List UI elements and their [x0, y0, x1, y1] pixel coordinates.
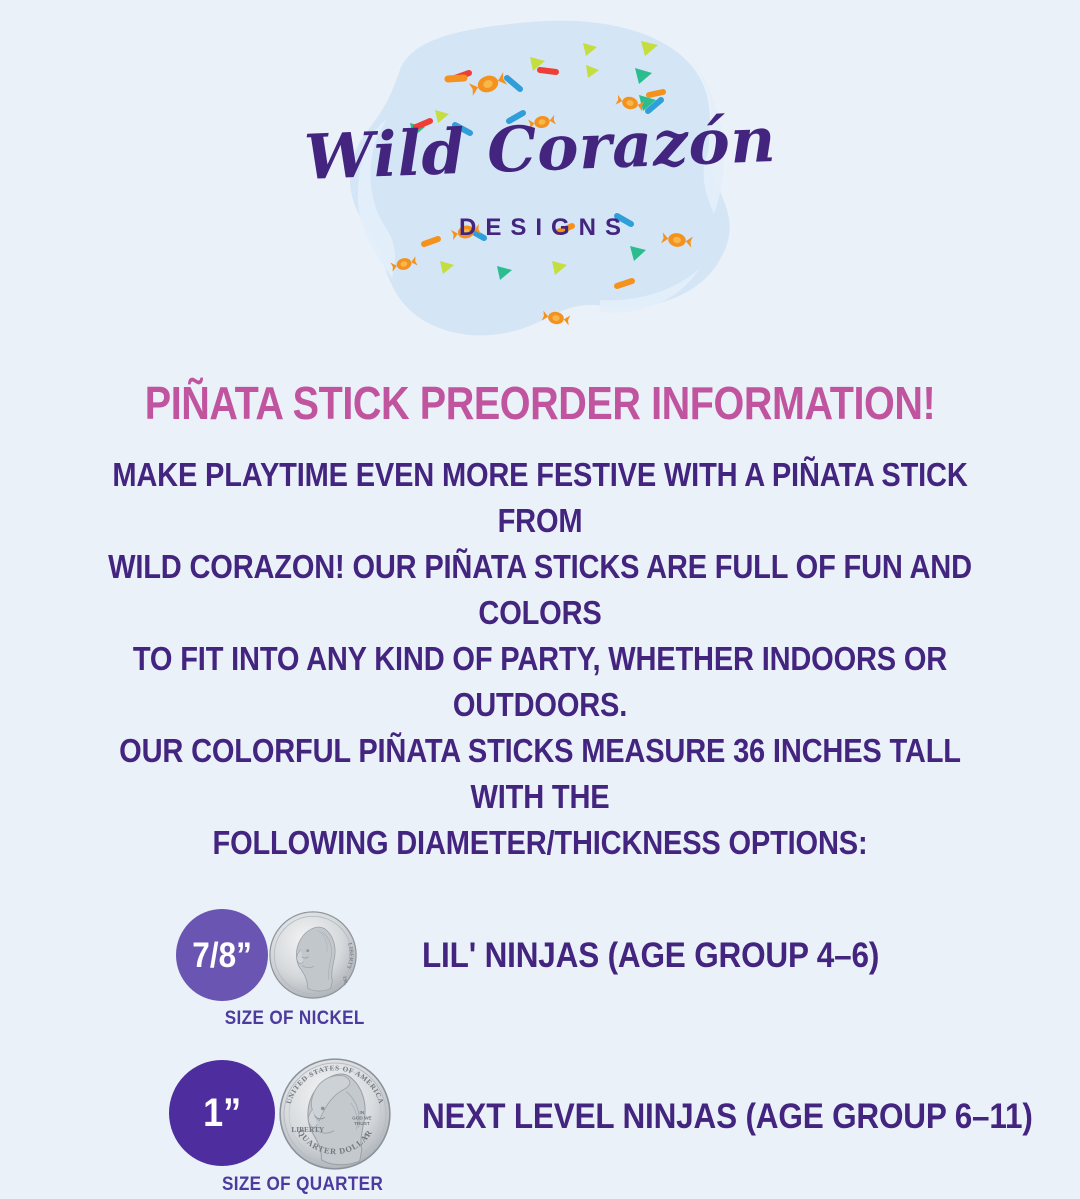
- size-caption-text: SIZE OF NICKEL: [225, 1008, 365, 1030]
- logo-hero: Wild Corazón DESIGNS: [0, 0, 1080, 350]
- size-option-row: 7/8”: [0, 900, 1080, 1056]
- svg-text:TRUST: TRUST: [354, 1121, 370, 1126]
- size-caption: SIZE OF NICKEL: [217, 1008, 373, 1030]
- size-caption: SIZE OF QUARTER: [213, 1174, 392, 1196]
- intro-line: TO FIT INTO ANY KIND OF PARTY, WHETHER I…: [100, 636, 980, 728]
- nickel-coin: IN GOD WE TRUST LIBERTY 1988: [269, 911, 357, 999]
- size-badge-label: 7/8”: [192, 938, 252, 973]
- size-badge-label: 1”: [203, 1093, 241, 1133]
- size-visual: 1”: [0, 1056, 400, 1199]
- svg-text:GOD WE: GOD WE: [352, 1116, 372, 1121]
- size-options-list: 7/8”: [0, 900, 1080, 1199]
- size-badge: 7/8”: [176, 909, 268, 1001]
- size-visual: 7/8”: [0, 900, 400, 1056]
- flyer-page: Wild Corazón DESIGNS PIÑATA STICK PREORD…: [0, 0, 1080, 1199]
- page-title: PIÑATA STICK PREORDER INFORMATION!: [76, 380, 1005, 426]
- svg-text:IN: IN: [360, 1110, 365, 1115]
- svg-text:LIBERTY: LIBERTY: [291, 1125, 325, 1134]
- intro-line: MAKE PLAYTIME EVEN MORE FESTIVE WITH A P…: [100, 452, 980, 544]
- quarter-icon: UNITED STATES OF AMERICA QUARTER DOLLAR …: [279, 1058, 391, 1170]
- intro-line: OUR COLORFUL PIÑATA STICKS MEASURE 36 IN…: [100, 728, 980, 820]
- size-option-label-text: NEXT LEVEL NINJAS (AGE GROUP 6–11): [422, 1097, 1033, 1137]
- size-option-row: 1”: [0, 1056, 1080, 1199]
- size-option-label-text: LIL' NINJAS (AGE GROUP 4–6): [422, 936, 879, 976]
- svg-text:IN GOD WE TRUST: IN GOD WE TRUST: [269, 911, 272, 913]
- size-option-label: NEXT LEVEL NINJAS (AGE GROUP 6–11): [422, 1097, 1080, 1137]
- intro-line: WILD CORAZON! OUR PIÑATA STICKS ARE FULL…: [100, 544, 980, 636]
- intro-paragraph: MAKE PLAYTIME EVEN MORE FESTIVE WITH A P…: [40, 452, 1040, 866]
- quarter-coin: UNITED STATES OF AMERICA QUARTER DOLLAR …: [279, 1058, 391, 1170]
- nickel-icon: IN GOD WE TRUST LIBERTY 1988: [269, 911, 357, 999]
- size-badge: 1”: [169, 1060, 275, 1166]
- logo-subtitle: DESIGNS: [0, 214, 1080, 242]
- size-option-label: LIL' NINJAS (AGE GROUP 4–6): [422, 936, 930, 976]
- intro-line: FOLLOWING DIAMETER/THICKNESS OPTIONS:: [100, 820, 980, 866]
- svg-text:P: P: [364, 1134, 367, 1140]
- size-caption-text: SIZE OF QUARTER: [222, 1174, 383, 1196]
